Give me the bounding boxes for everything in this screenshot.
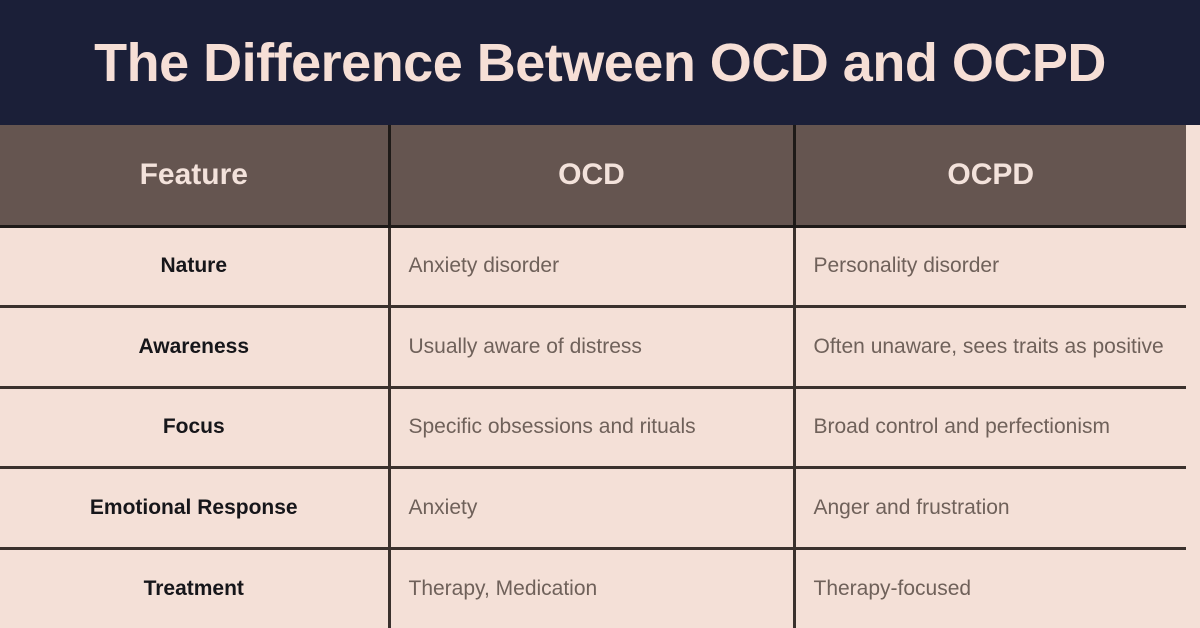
table-row: Nature Anxiety disorder Personality diso… — [0, 226, 1186, 307]
cell-feature: Nature — [0, 226, 389, 307]
infographic-page: The Difference Between OCD and OCPD Feat… — [0, 0, 1200, 628]
cell-feature: Awareness — [0, 307, 389, 388]
title-banner: The Difference Between OCD and OCPD — [0, 0, 1200, 125]
table-header-row: Feature OCD OCPD — [0, 125, 1186, 226]
cell-ocd: Therapy, Medication — [389, 548, 794, 628]
table-header: Feature OCD OCPD — [0, 125, 1186, 226]
cell-ocpd: Broad control and perfectionism — [794, 387, 1186, 468]
cell-ocd: Anxiety disorder — [389, 226, 794, 307]
cell-ocpd: Often unaware, sees traits as positive — [794, 307, 1186, 388]
table-body: Nature Anxiety disorder Personality diso… — [0, 226, 1186, 628]
comparison-table-container: Feature OCD OCPD Nature Anxiety disorder… — [0, 125, 1186, 628]
table-row: Focus Specific obsessions and rituals Br… — [0, 387, 1186, 468]
cell-ocd: Anxiety — [389, 468, 794, 549]
cell-ocpd: Anger and frustration — [794, 468, 1186, 549]
cell-ocpd: Personality disorder — [794, 226, 1186, 307]
cell-feature: Emotional Response — [0, 468, 389, 549]
cell-ocd: Specific obsessions and rituals — [389, 387, 794, 468]
table-row: Emotional Response Anxiety Anger and fru… — [0, 468, 1186, 549]
table-row: Awareness Usually aware of distress Ofte… — [0, 307, 1186, 388]
comparison-table: Feature OCD OCPD Nature Anxiety disorder… — [0, 125, 1186, 628]
cell-ocd: Usually aware of distress — [389, 307, 794, 388]
cell-feature: Treatment — [0, 548, 389, 628]
cell-ocpd: Therapy-focused — [794, 548, 1186, 628]
column-header-ocpd: OCPD — [794, 125, 1186, 226]
page-title: The Difference Between OCD and OCPD — [94, 36, 1106, 90]
table-row: Treatment Therapy, Medication Therapy-fo… — [0, 548, 1186, 628]
column-header-feature: Feature — [0, 125, 389, 226]
column-header-ocd: OCD — [389, 125, 794, 226]
cell-feature: Focus — [0, 387, 389, 468]
